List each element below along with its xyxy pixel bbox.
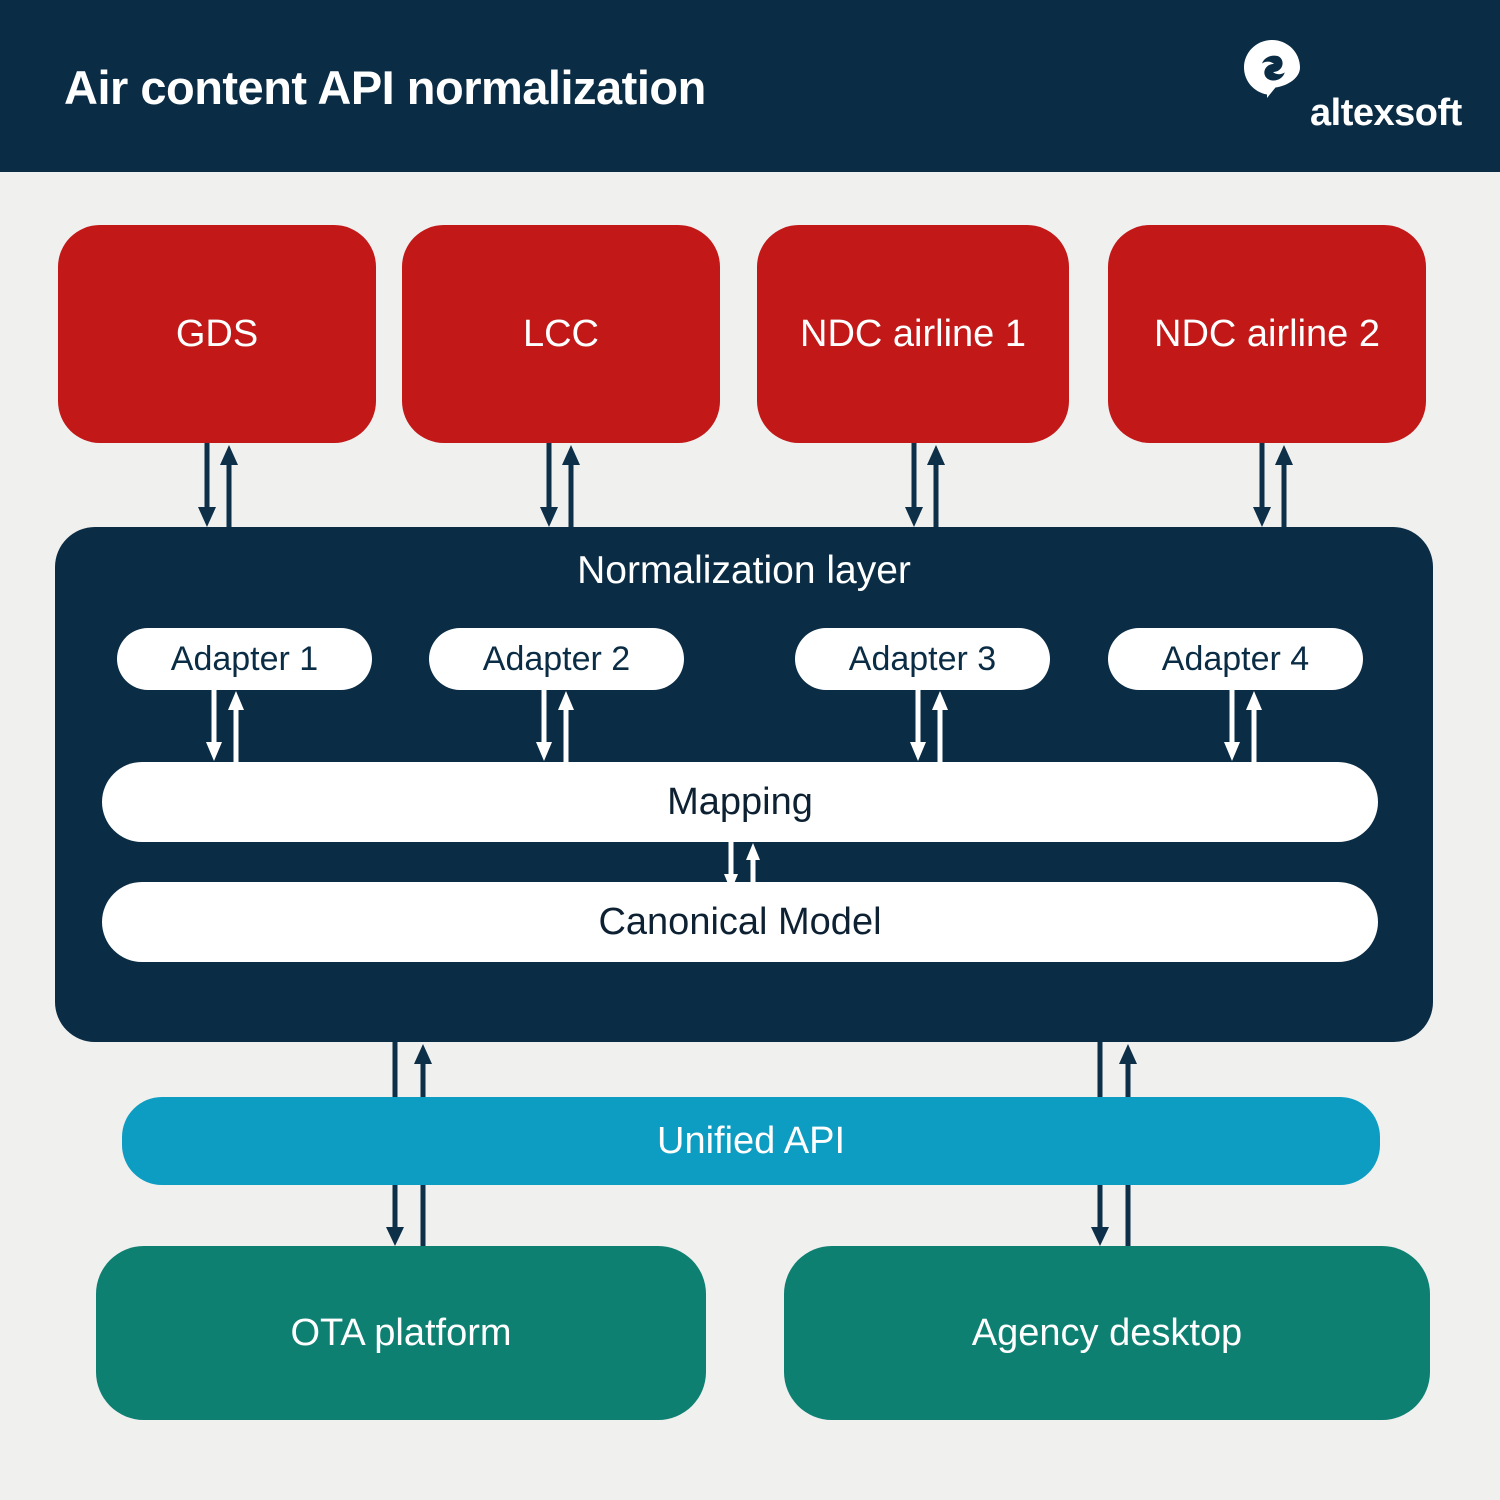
adapter-label-4: Adapter 4 bbox=[1162, 640, 1309, 679]
arrow-layer-unifiedapi-left bbox=[383, 1042, 435, 1097]
mapping-bar[interactable]: Mapping bbox=[102, 762, 1378, 842]
altexsoft-logo: altexsoft bbox=[1222, 40, 1442, 140]
source-box-ndc-airline-1[interactable]: NDC airline 1 bbox=[757, 225, 1069, 443]
consumer-box-ota-platform[interactable]: OTA platform bbox=[96, 1246, 706, 1420]
source-label-gds: GDS bbox=[176, 313, 258, 356]
arrow-adapter4-mapping bbox=[1221, 690, 1265, 762]
canonical-model-label: Canonical Model bbox=[598, 901, 881, 944]
arrow-layer-unifiedapi-right bbox=[1088, 1042, 1140, 1097]
adapter-label-3: Adapter 3 bbox=[849, 640, 996, 679]
adapter-pill-4[interactable]: Adapter 4 bbox=[1108, 628, 1363, 690]
normalization-layer: Normalization layer Adapter 1 Adapter 2 … bbox=[55, 527, 1433, 1042]
consumer-box-agency-desktop[interactable]: Agency desktop bbox=[784, 1246, 1430, 1420]
consumer-label-agency-desktop: Agency desktop bbox=[972, 1312, 1242, 1355]
unified-api-label: Unified API bbox=[657, 1120, 845, 1163]
source-label-lcc: LCC bbox=[523, 313, 599, 356]
source-box-ndc-airline-2[interactable]: NDC airline 2 bbox=[1108, 225, 1426, 443]
arrow-unifiedapi-ota bbox=[383, 1185, 435, 1247]
source-label-ndc-airline-2: NDC airline 2 bbox=[1154, 313, 1380, 356]
diagram-canvas: Air content API normalization altexsoft … bbox=[0, 0, 1500, 1500]
source-box-gds[interactable]: GDS bbox=[58, 225, 376, 443]
arrow-ndc2-down bbox=[1251, 443, 1295, 529]
arrow-adapter3-mapping bbox=[907, 690, 951, 762]
canonical-model-bar[interactable]: Canonical Model bbox=[102, 882, 1378, 962]
header-bar: Air content API normalization altexsoft bbox=[0, 0, 1500, 172]
adapter-pill-2[interactable]: Adapter 2 bbox=[429, 628, 684, 690]
mapping-label: Mapping bbox=[667, 781, 813, 824]
adapter-label-2: Adapter 2 bbox=[483, 640, 630, 679]
source-box-lcc[interactable]: LCC bbox=[402, 225, 720, 443]
normalization-layer-title: Normalization layer bbox=[55, 549, 1433, 593]
arrow-adapter2-mapping bbox=[533, 690, 577, 762]
source-label-ndc-airline-1: NDC airline 1 bbox=[800, 313, 1026, 356]
arrow-lcc-down bbox=[538, 443, 582, 529]
unified-api-bar[interactable]: Unified API bbox=[122, 1097, 1380, 1185]
adapter-pill-1[interactable]: Adapter 1 bbox=[117, 628, 372, 690]
arrow-gds-down bbox=[196, 443, 240, 529]
adapter-label-1: Adapter 1 bbox=[171, 640, 318, 679]
adapter-pill-3[interactable]: Adapter 3 bbox=[795, 628, 1050, 690]
consumer-label-ota-platform: OTA platform bbox=[290, 1312, 511, 1355]
arrow-adapter1-mapping bbox=[203, 690, 247, 762]
arrow-unifiedapi-agency bbox=[1088, 1185, 1140, 1247]
altexsoft-wordmark: altexsoft bbox=[1310, 94, 1462, 132]
arrow-ndc1-down bbox=[903, 443, 947, 529]
altexsoft-a-mark-icon bbox=[1244, 40, 1300, 98]
page-title: Air content API normalization bbox=[64, 60, 706, 115]
